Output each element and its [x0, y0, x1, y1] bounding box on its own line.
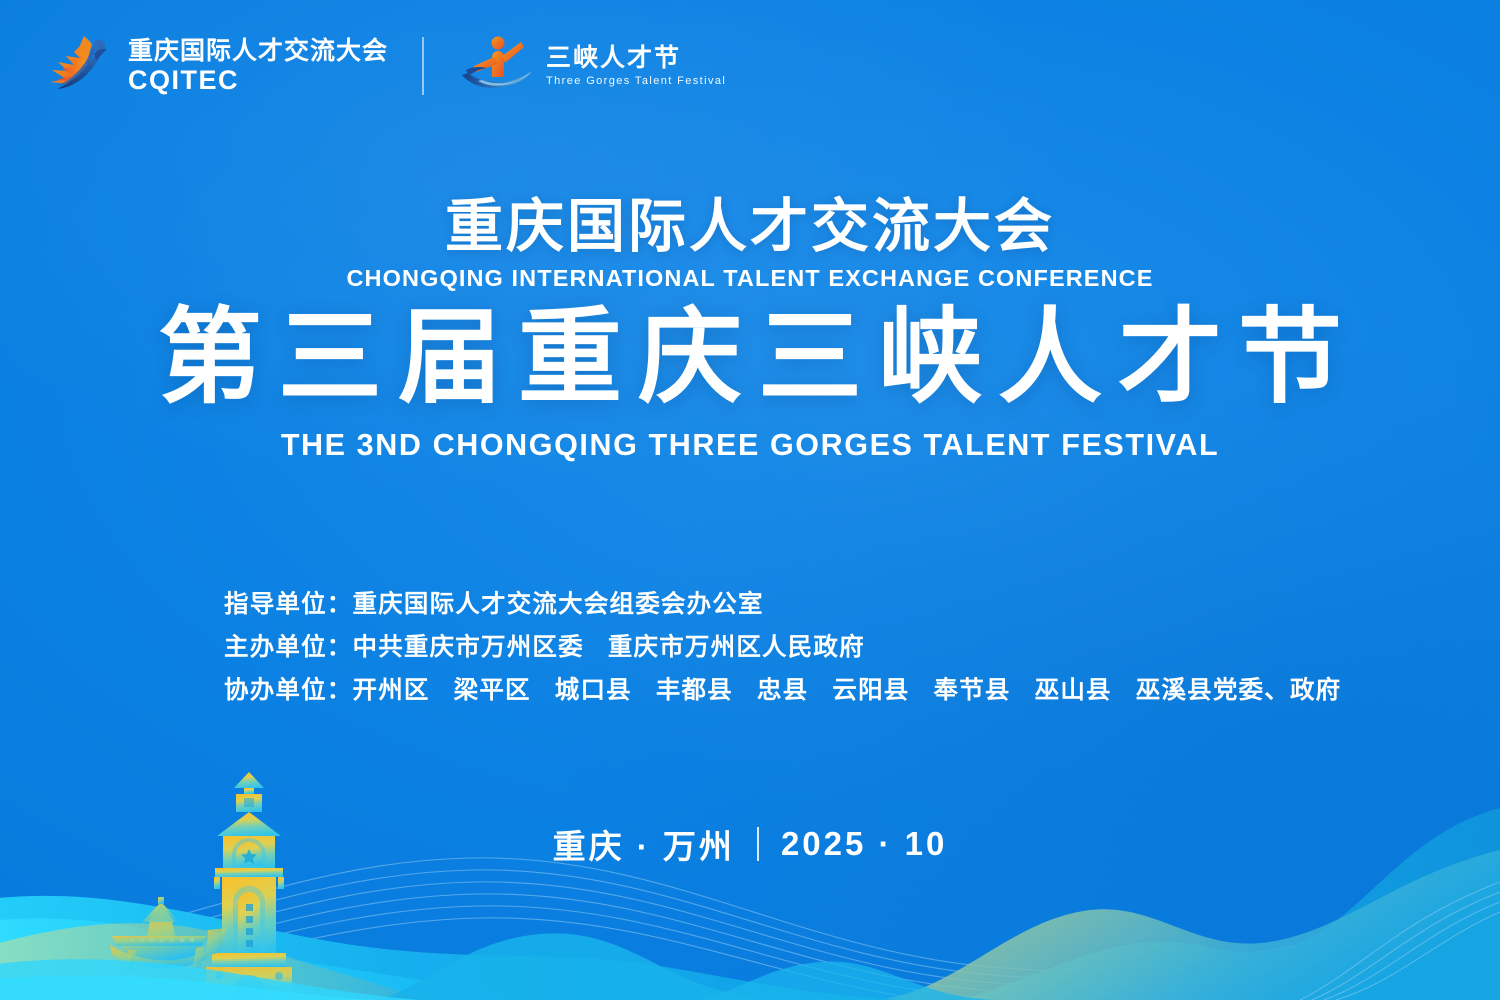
header-logos: 重庆国际人才交流大会 CQITEC — [44, 28, 726, 104]
three-gorges-cn-name: 三峡人才节 — [546, 46, 726, 71]
wanzhou-clock-tower-icon — [206, 772, 292, 1000]
cqitec-cn-name: 重庆国际人才交流大会 — [128, 39, 388, 64]
organizer-list: 指导单位：重庆国际人才交流大会组委会办公室 主办单位：中共重庆市万州区委 重庆市… — [224, 583, 1341, 712]
cqitec-phoenix-figure-logo-icon — [44, 28, 116, 105]
three-gorges-en-name: Three Gorges Talent Festival — [546, 76, 726, 87]
scenery-decoration — [0, 770, 1500, 1000]
organizer-line-guidance: 指导单位：重庆国际人才交流大会组委会办公室 — [224, 583, 1341, 626]
three-gorges-figure-wave-logo-icon — [458, 33, 536, 100]
festival-title-cn: 第三届重庆三峡人才节 — [0, 300, 1500, 416]
three-gorges-wordmark: 三峡人才节 Three Gorges Talent Festival — [546, 46, 726, 87]
cqitec-en-name: CQITEC — [128, 67, 388, 94]
conference-title-cn: 重庆国际人才交流大会 — [0, 196, 1500, 259]
logo-divider — [422, 37, 424, 95]
cqitec-wordmark: 重庆国际人才交流大会 CQITEC — [128, 39, 388, 94]
conference-title-en: CHONGQING INTERNATIONAL TALENT EXCHANGE … — [0, 265, 1500, 292]
poster-canvas: 重庆国际人才交流大会 CQITEC — [0, 0, 1500, 1000]
title-block: 重庆国际人才交流大会 CHONGQING INTERNATIONAL TALEN… — [0, 196, 1500, 463]
cqitec-logo: 重庆国际人才交流大会 CQITEC — [44, 28, 388, 105]
three-gorges-logo: 三峡人才节 Three Gorges Talent Festival — [458, 33, 726, 100]
organizer-line-cohost: 协办单位：开州区 梁平区 城口县 丰都县 忠县 云阳县 奉节县 巫山县 巫溪县党… — [224, 669, 1341, 712]
festival-title-en: THE 3ND CHONGQING THREE GORGES TALENT FE… — [0, 428, 1500, 463]
organizer-line-host: 主办单位：中共重庆市万州区委 重庆市万州区人民政府 — [224, 626, 1341, 669]
